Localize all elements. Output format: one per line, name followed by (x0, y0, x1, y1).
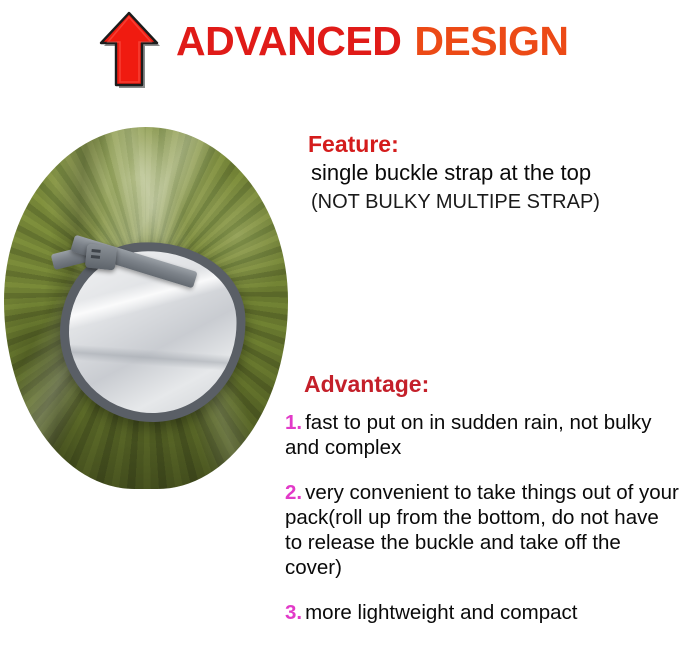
feature-line-1: single buckle strap at the top (283, 158, 679, 188)
list-item: 3.more lightweight and compact (283, 600, 679, 625)
advantage-heading: Advantage: (283, 370, 679, 398)
title-word-design: DESIGN (414, 18, 568, 64)
advantage-list: 1.fast to put on in sudden rain, not bul… (283, 410, 679, 625)
rain-cover-fabric (4, 127, 288, 489)
list-item-text: fast to put on in sudden rain, not bulky… (285, 411, 652, 459)
list-item-number: 1. (285, 411, 302, 434)
list-item-text: very convenient to take things out of yo… (285, 481, 679, 579)
page-title: ADVANCEDDESIGN (176, 17, 569, 65)
list-item: 2.very convenient to take things out of … (283, 480, 679, 580)
advantage-block: Advantage: 1.fast to put on in sudden ra… (283, 370, 679, 625)
list-item-number: 2. (285, 481, 302, 504)
list-item: 1.fast to put on in sudden rain, not bul… (283, 410, 679, 460)
feature-line-2: (NOT BULKY MULTIPE STRAP) (283, 188, 679, 216)
header-banner: ADVANCEDDESIGN (0, 0, 679, 100)
feature-heading: Feature: (283, 130, 679, 158)
feature-block: Feature: single buckle strap at the top … (283, 130, 679, 216)
product-image (0, 123, 292, 493)
list-item-number: 3. (285, 601, 302, 624)
list-item-text: more lightweight and compact (305, 601, 577, 624)
buckle-clip-icon (85, 243, 117, 270)
title-word-advanced: ADVANCED (176, 18, 401, 64)
up-arrow-icon (98, 10, 160, 88)
